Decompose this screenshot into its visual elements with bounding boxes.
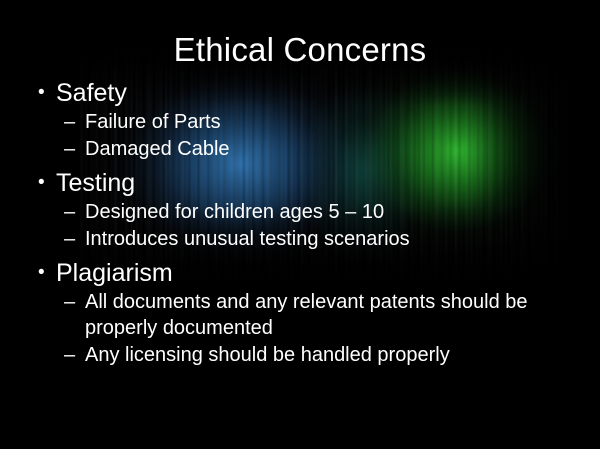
sub-bullet-label: Damaged Cable — [85, 136, 600, 162]
sub-bullet-label: Any licensing should be handled properly — [85, 342, 600, 368]
sub-bullet-label: All documents and any relevant patents s… — [85, 289, 600, 341]
sub-bullet-label: Designed for children ages 5 – 10 — [85, 199, 600, 225]
bullet-label-plagiarism: Plagiarism — [56, 259, 173, 287]
dash-marker-icon: – — [64, 226, 75, 252]
bullet-label-testing: Testing — [56, 169, 135, 197]
bullet-item-plagiarism: • Plagiarism — [0, 258, 600, 288]
sub-bullet-label: Introduces unusual testing scenarios — [85, 226, 600, 252]
bullet-dot-icon: • — [38, 168, 45, 198]
dash-marker-icon: – — [64, 289, 75, 315]
sub-bullet-item: – Designed for children ages 5 – 10 — [0, 199, 600, 225]
dash-marker-icon: – — [64, 342, 75, 368]
sub-bullet-label: Failure of Parts — [85, 109, 600, 135]
bullet-item-safety: • Safety — [0, 78, 600, 108]
presentation-slide: Ethical Concerns • Safety – Failure of P… — [0, 0, 600, 449]
sub-bullet-item: – All documents and any relevant patents… — [0, 289, 600, 341]
slide-title: Ethical Concerns — [0, 30, 600, 70]
dash-marker-icon: – — [64, 199, 75, 225]
sub-bullet-item: – Damaged Cable — [0, 136, 600, 162]
bullet-item-testing: • Testing — [0, 168, 600, 198]
sub-bullet-item: – Any licensing should be handled proper… — [0, 342, 600, 368]
bullet-dot-icon: • — [38, 258, 45, 288]
bullet-dot-icon: • — [38, 78, 45, 108]
bullet-label-safety: Safety — [56, 79, 127, 107]
sub-bullet-item: – Introduces unusual testing scenarios — [0, 226, 600, 252]
dash-marker-icon: – — [64, 109, 75, 135]
dash-marker-icon: – — [64, 136, 75, 162]
slide-body-list: • Safety – Failure of Parts – Damaged Ca… — [0, 78, 600, 369]
sub-bullet-item: – Failure of Parts — [0, 109, 600, 135]
